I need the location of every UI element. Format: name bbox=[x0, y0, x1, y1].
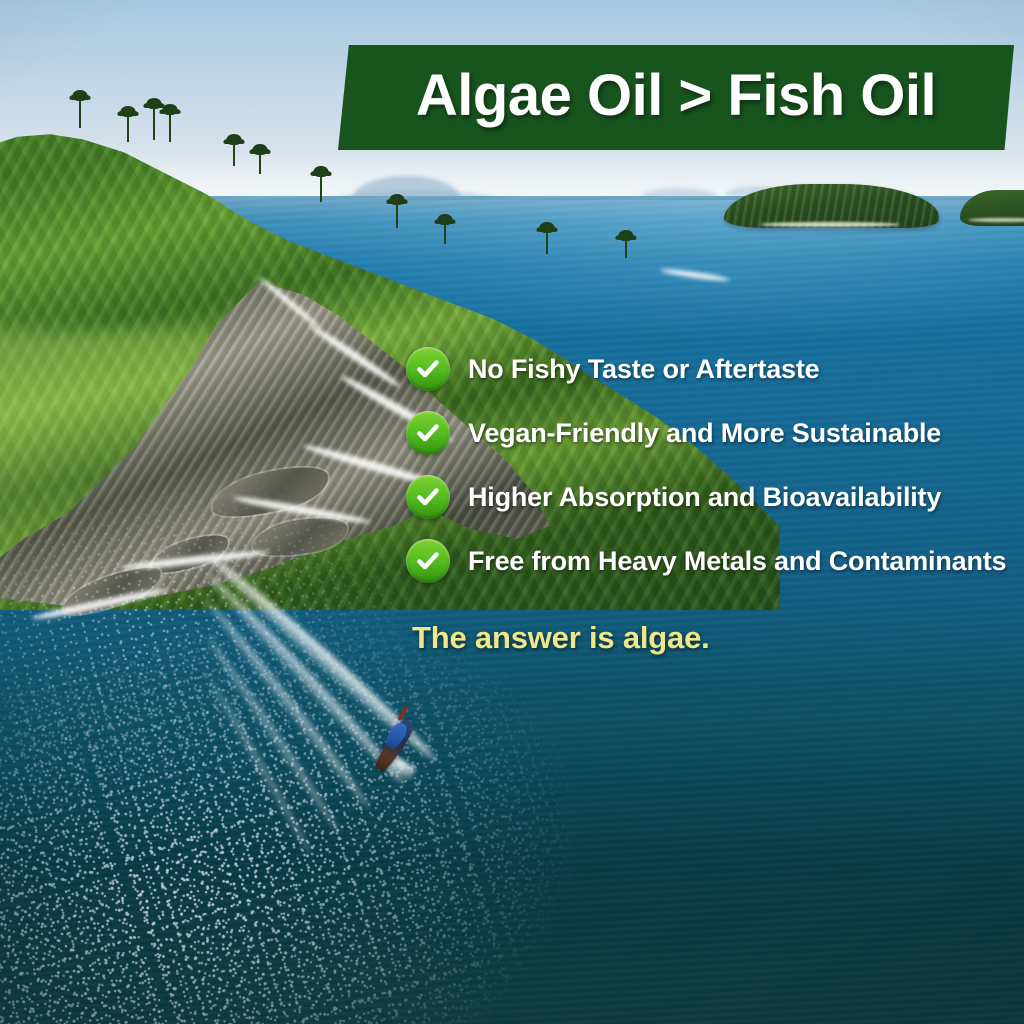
palm-tree-icon bbox=[162, 106, 178, 142]
palm-tree-icon bbox=[252, 146, 267, 174]
palm-tree-icon bbox=[390, 196, 404, 228]
check-icon bbox=[406, 411, 450, 455]
palm-tree-icon bbox=[314, 168, 328, 202]
check-icon bbox=[406, 347, 450, 391]
palm-tree-icon bbox=[226, 136, 241, 166]
check-icon bbox=[406, 475, 450, 519]
list-item: Free from Heavy Metals and Contaminants bbox=[406, 539, 1016, 583]
list-item-label: Higher Absorption and Bioavailability bbox=[468, 482, 941, 513]
title-banner: Algae Oil > Fish Oil bbox=[338, 45, 1014, 150]
palm-tree-icon bbox=[620, 232, 632, 258]
list-item-label: Free from Heavy Metals and Contaminants bbox=[468, 546, 1006, 577]
list-item-label: No Fishy Taste or Aftertaste bbox=[468, 354, 819, 385]
palm-tree-icon bbox=[540, 224, 553, 254]
palm-tree-icon bbox=[120, 108, 136, 142]
promo-graphic: Algae Oil > Fish Oil No Fishy Taste or A… bbox=[0, 0, 1024, 1024]
palm-tree-icon bbox=[146, 100, 162, 140]
palm-tree-icon bbox=[438, 216, 451, 244]
list-item-label: Vegan-Friendly and More Sustainable bbox=[468, 418, 941, 449]
list-item: Vegan-Friendly and More Sustainable bbox=[406, 411, 1016, 455]
check-icon bbox=[406, 539, 450, 583]
island-beach bbox=[760, 222, 900, 227]
banner-title-text: Algae Oil > Fish Oil bbox=[416, 62, 936, 133]
palm-tree-icon bbox=[72, 92, 88, 128]
tagline-text: The answer is algae. bbox=[412, 620, 710, 656]
list-item: No Fishy Taste or Aftertaste bbox=[406, 347, 1016, 391]
benefits-list: No Fishy Taste or Aftertaste Vegan-Frien… bbox=[406, 347, 1016, 603]
list-item: Higher Absorption and Bioavailability bbox=[406, 475, 1016, 519]
